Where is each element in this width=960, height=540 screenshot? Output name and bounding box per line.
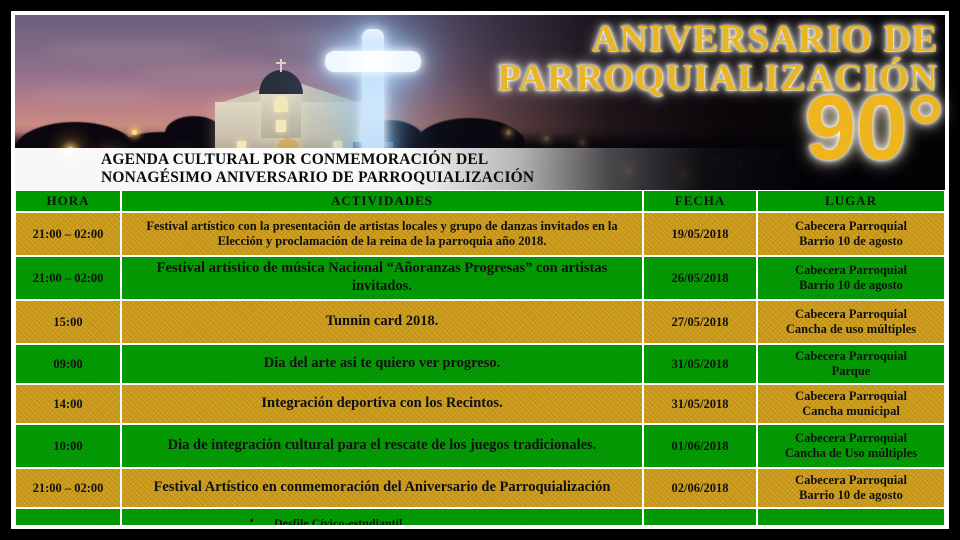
lugar-line-1: Cabecera Parroquial	[762, 349, 940, 364]
lugar-line-1: Cabecera Parroquial	[762, 389, 940, 404]
cell-fecha: 01/06/2018	[643, 424, 757, 468]
lugar-line-2: Cancha de uso múltiples	[762, 322, 940, 337]
table-row: 15:00Tunnin card 2018.27/05/2018Cabecera…	[15, 300, 945, 344]
cell-lugar: Cabecera ParroquialBarrio 10 de agosto	[757, 468, 945, 508]
lugar-line-1: Cabecera Parroquial	[762, 307, 940, 322]
column-header-hora: HORA	[15, 190, 121, 212]
table-header-row: HORA ACTIVIDADES FECHA LUGAR	[15, 190, 945, 212]
cell-lugar: Cabecera ParroquialParque	[757, 344, 945, 384]
cell-lugar: Cabecera ParroquialCancha de uso múltipl…	[757, 300, 945, 344]
cell-fecha: 26/05/2018	[643, 256, 757, 300]
cell-fecha: 31/05/2018	[643, 384, 757, 424]
lugar-line-2: Parque	[762, 364, 940, 379]
subtitle-line-2: NONAGÉSIMO ANIVERSARIO DE PARROQUIALIZAC…	[101, 169, 534, 187]
column-header-fecha: FECHA	[643, 190, 757, 212]
cell-actividad: Tunnin card 2018.	[121, 300, 643, 344]
activity-bullet-list: Desfile Cívico-estudiantil.Sesión Conmem…	[222, 517, 542, 526]
lugar-line-2: Barrio 10 de agosto	[762, 234, 940, 249]
column-header-actividades: ACTIVIDADES	[121, 190, 643, 212]
agenda-table-body: 21:00 – 02:00Festival artístico con la p…	[15, 212, 945, 526]
cell-actividad: Festival artístico con la presentación d…	[121, 212, 643, 256]
cell-actividad: Festival Artístico en conmemoración del …	[121, 468, 643, 508]
subtitle-text: AGENDA CULTURAL POR CONMEMORACIÓN DEL NO…	[101, 151, 534, 188]
lugar-line-1: Cabecera Parroquial	[762, 526, 940, 527]
column-header-lugar: LUGAR	[757, 190, 945, 212]
cell-lugar: Cabecera Parroquial	[757, 508, 945, 526]
agenda-table-container: HORA ACTIVIDADES FECHA LUGAR 21:00 – 02:…	[15, 190, 945, 526]
table-row: 21:00 – 02:00Festival artístico de músic…	[15, 256, 945, 300]
cell-lugar: Cabecera ParroquialCancha municipal	[757, 384, 945, 424]
table-row: 21:00 – 02:00Festival artístico con la p…	[15, 212, 945, 256]
cell-hora: 15:00	[15, 300, 121, 344]
cell-hora: 09:00	[15, 344, 121, 384]
cell-fecha: 31/05/2018	[643, 344, 757, 384]
cell-fecha: 03/06/2018	[643, 508, 757, 526]
lugar-line-2: Barrio 10 de agosto	[762, 488, 940, 503]
headline-line-1: ANIVERSARIO DE	[497, 20, 938, 58]
cell-lugar: Cabecera ParroquialBarrio 10 de agosto	[757, 212, 945, 256]
table-row: 14:00Integración deportiva con los Recin…	[15, 384, 945, 424]
activity-bullet-item: Desfile Cívico-estudiantil.	[222, 517, 542, 526]
poster-canvas: ANIVERSARIO DE PARROQUIALIZACIÓN 90° AGE…	[0, 0, 960, 540]
table-row: 10:00Dia de integración cultural para el…	[15, 424, 945, 468]
cell-actividad: Dia de integración cultural para el resc…	[121, 424, 643, 468]
cell-fecha: 27/05/2018	[643, 300, 757, 344]
cell-hora: 14:00	[15, 384, 121, 424]
lugar-line-1: Cabecera Parroquial	[762, 263, 940, 278]
table-row: 21:00 – 02:00Festival Artístico en conme…	[15, 468, 945, 508]
lugar-line-2: Barrio 10 de agosto	[762, 278, 940, 293]
lugar-line-2: Cancha municipal	[762, 404, 940, 419]
cell-hora: 10:00	[15, 424, 121, 468]
subtitle-banner: AGENDA CULTURAL POR CONMEMORACIÓN DEL NO…	[15, 148, 945, 190]
table-row: 09:00Dia del arte asi te quiero ver prog…	[15, 344, 945, 384]
agenda-table: HORA ACTIVIDADES FECHA LUGAR 21:00 – 02:…	[15, 190, 945, 526]
lugar-line-1: Cabecera Parroquial	[762, 473, 940, 488]
cell-hora: 21:00 – 02:00	[15, 212, 121, 256]
cell-actividad: Desfile Cívico-estudiantil.Sesión Conmem…	[121, 508, 643, 526]
cell-hora: 21:00 – 02:00	[15, 468, 121, 508]
cell-hora: 10:00	[15, 508, 121, 526]
cell-hora: 21:00 – 02:00	[15, 256, 121, 300]
cell-actividad: Integración deportiva con los Recintos.	[121, 384, 643, 424]
subtitle-line-1: AGENDA CULTURAL POR CONMEMORACIÓN DEL	[101, 151, 534, 169]
table-row: 10:00Desfile Cívico-estudiantil.Sesión C…	[15, 508, 945, 526]
cell-actividad: Festival artístico de música Nacional “A…	[121, 256, 643, 300]
cell-actividad: Dia del arte asi te quiero ver progreso.	[121, 344, 643, 384]
lugar-line-2: Cancha de Uso múltiples	[762, 446, 940, 461]
lugar-line-1: Cabecera Parroquial	[762, 219, 940, 234]
cell-fecha: 02/06/2018	[643, 468, 757, 508]
cell-lugar: Cabecera ParroquialBarrio 10 de agosto	[757, 256, 945, 300]
illuminated-cross-icon	[362, 29, 384, 159]
cell-fecha: 19/05/2018	[643, 212, 757, 256]
cell-lugar: Cabecera ParroquialCancha de Uso múltipl…	[757, 424, 945, 468]
lugar-line-1: Cabecera Parroquial	[762, 431, 940, 446]
